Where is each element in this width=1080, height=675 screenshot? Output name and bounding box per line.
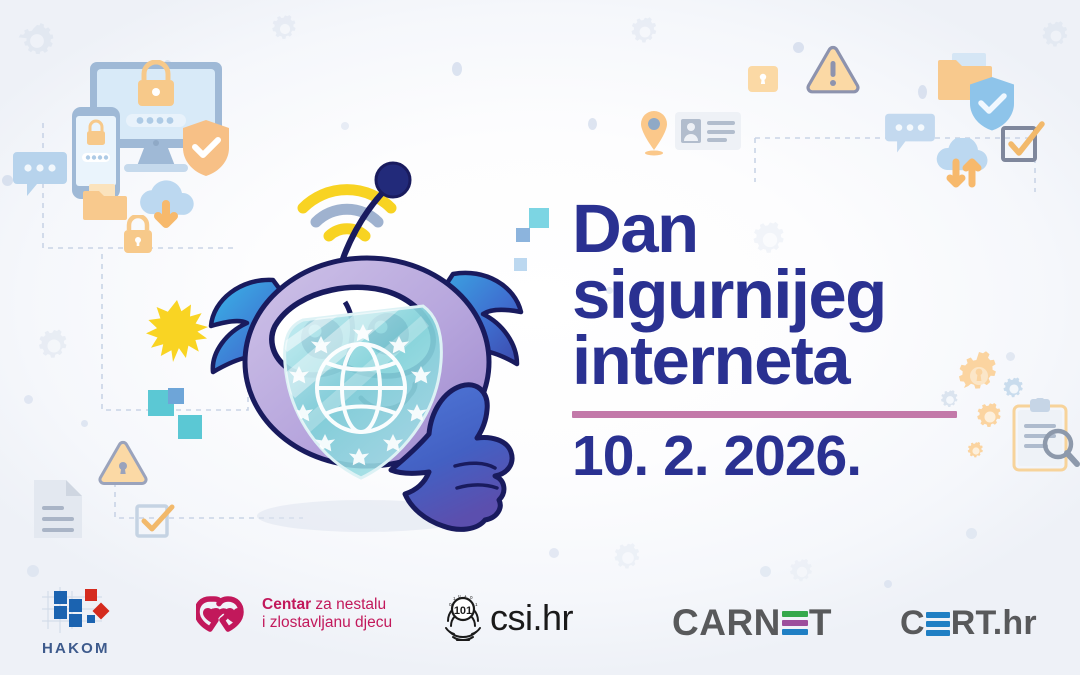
decorative-dot [549, 548, 559, 558]
gear-icon [14, 18, 60, 64]
decorative-dot [2, 175, 13, 186]
centar-wordmark: Centar za nestalu i zlostavljanu djecu [262, 596, 392, 633]
svg-text:0: 0 [449, 602, 452, 607]
logo-cert-hr[interactable]: C RT.hr [900, 604, 1037, 643]
decorative-dot [452, 62, 462, 76]
carnet-prefix: CARN [672, 602, 781, 644]
safer-internet-day-mascot [185, 130, 535, 550]
two-hearts-infinity-icon [196, 595, 252, 633]
centar-bold: Centar [262, 596, 311, 613]
centar-line2: i zlostavljanu djecu [262, 614, 392, 632]
checkbox-check-icon [134, 500, 176, 542]
gear-icon [268, 12, 302, 46]
blue-shield-check-icon [967, 75, 1017, 133]
warning-triangle-icon [805, 45, 861, 95]
headline-line-2: sigurnijeg [572, 262, 1002, 328]
chat-bubble-icon [13, 148, 67, 200]
headline-line-3: interneta [572, 328, 1002, 394]
csi-wordmark: csi.hr [490, 597, 573, 639]
gear-icon [1038, 18, 1074, 54]
decorative-dot [81, 420, 88, 427]
decorative-dot [918, 85, 927, 99]
logo-hakom[interactable]: HAKOM [42, 587, 152, 657]
logo-csi-hr[interactable]: 101 1010 01 csi.hr [444, 595, 573, 641]
padlock-icon [121, 215, 155, 255]
fingerprint-101-icon: 101 1010 01 [444, 595, 482, 641]
svg-text:1: 1 [453, 596, 456, 601]
decorative-dot [966, 528, 977, 539]
poster-canvas: Dan sigurnijeg interneta 10. 2. 2026. [0, 0, 1080, 675]
centar-rest: za nestalu [311, 596, 386, 613]
warning-triangle-keyhole-icon [97, 440, 149, 486]
carnet-e-bars-icon [782, 611, 808, 635]
clipboard-search-icon [1010, 398, 1080, 474]
svg-text:1: 1 [475, 602, 478, 607]
keyhole-icon [748, 66, 778, 92]
svg-text:0: 0 [470, 595, 473, 600]
svg-text:1: 1 [464, 595, 467, 598]
headline-line-1: Dan [572, 196, 1002, 262]
id-card-icon [675, 112, 741, 150]
location-pin-icon [638, 110, 670, 156]
smartphone-padlock-icon [70, 105, 122, 201]
decorative-dot [1006, 352, 1015, 361]
partner-logo-bar: HAKOM Centar za nestalu i zlostavljanu d… [0, 575, 1080, 675]
checkbox-check-icon [1000, 120, 1046, 166]
decorative-dot [588, 118, 597, 130]
folder-icon [83, 182, 127, 224]
svg-text:0: 0 [458, 595, 461, 598]
document-icon [32, 478, 84, 540]
teal-squares-icon [148, 390, 174, 416]
cert-prefix: C [900, 604, 925, 643]
decorative-dot [163, 60, 172, 72]
decorative-dot [24, 395, 33, 404]
teal-squares-icon [168, 388, 184, 404]
gear-icon [1000, 375, 1028, 403]
hakom-mark-icon [42, 587, 134, 633]
gear-icon [627, 14, 663, 50]
chat-bubble-icon [884, 110, 936, 158]
decorative-dot [793, 42, 804, 53]
logo-centar-za-nestalu-djecu[interactable]: Centar za nestalu i zlostavljanu djecu [196, 595, 392, 633]
fingerprint-101-text: 101 [454, 605, 472, 617]
dashed-connector [745, 72, 1045, 192]
gear-icon [34, 326, 74, 366]
carnet-suffix: T [809, 602, 832, 644]
cert-suffix: RT.hr [951, 604, 1037, 643]
cert-e-bars-icon [926, 612, 950, 636]
page-title: Dan sigurnijeg interneta [572, 196, 1002, 395]
folder-icon [938, 52, 994, 104]
decorative-dot [341, 122, 349, 130]
hakom-wordmark: HAKOM [42, 640, 152, 657]
logo-carnet[interactable]: CARN T [672, 602, 832, 644]
pink-divider [572, 411, 957, 418]
event-date: 10. 2. 2026. [572, 428, 1002, 485]
gear-icon [610, 540, 646, 576]
headline-block: Dan sigurnijeg interneta 10. 2. 2026. [572, 196, 1002, 485]
cloud-sync-icon [930, 138, 996, 198]
